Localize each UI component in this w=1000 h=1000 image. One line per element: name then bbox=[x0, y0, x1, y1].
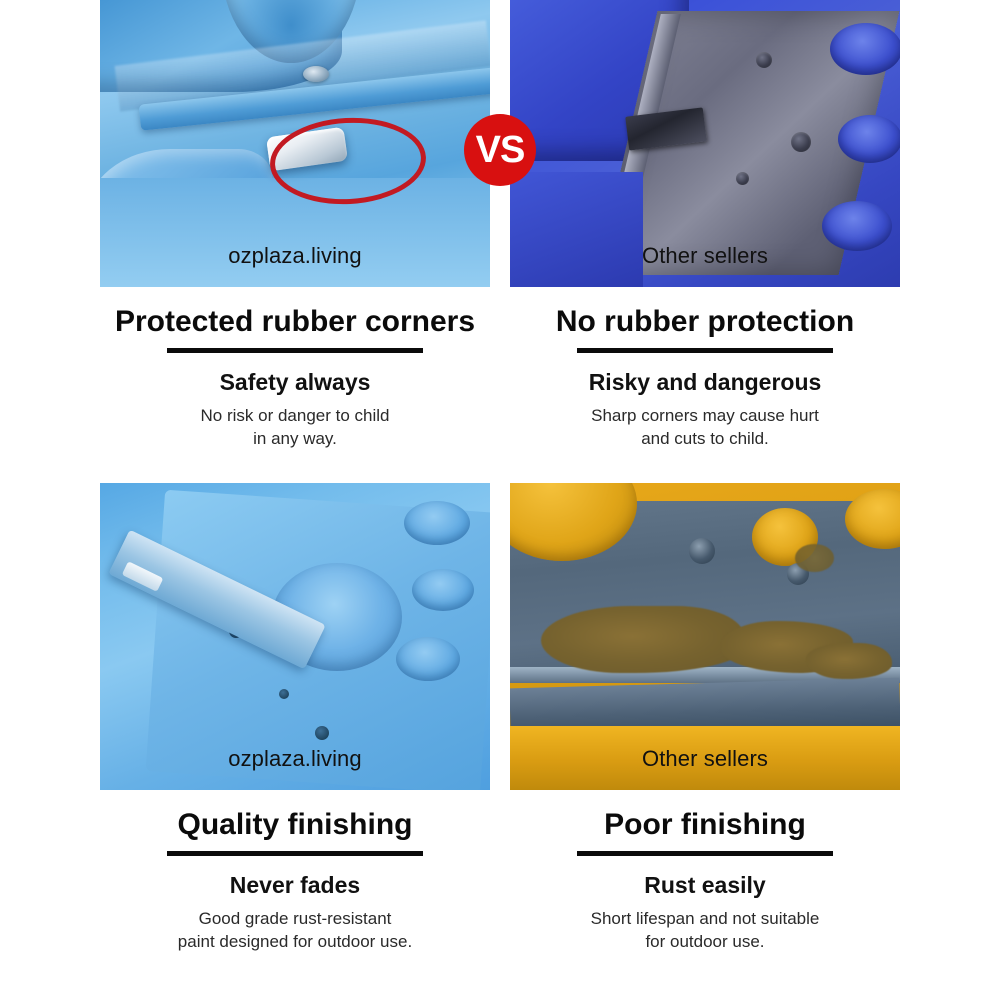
body-ours-line1: No risk or danger to child bbox=[100, 405, 490, 427]
vs-badge-top: VS bbox=[464, 114, 536, 186]
photo-detail-bolt bbox=[756, 52, 772, 68]
text-column-theirs-finishing: Poor finishing Rust easily Short lifespa… bbox=[510, 808, 900, 953]
headline-ours: Quality finishing bbox=[100, 808, 490, 842]
watermark-competitor: Other sellers bbox=[510, 746, 900, 772]
subhead-ours: Safety always bbox=[100, 369, 490, 397]
body-ours-line1: Good grade rust-resistant bbox=[100, 908, 490, 930]
panel-divider-bottom bbox=[490, 483, 510, 790]
subhead-theirs: Risky and dangerous bbox=[510, 369, 900, 397]
subhead-theirs: Rust easily bbox=[510, 872, 900, 900]
headline-rule bbox=[577, 348, 833, 353]
watermark-brand: ozplaza.living bbox=[100, 746, 490, 772]
body-theirs-line2: for outdoor use. bbox=[510, 931, 900, 953]
body-theirs-line2: and cuts to child. bbox=[510, 428, 900, 450]
media-row-bottom: ozplaza.living bbox=[0, 483, 1000, 790]
photo-detail-lower-blue bbox=[510, 172, 643, 287]
competitor-photo-no-protection: Other sellers bbox=[510, 0, 900, 287]
photo-blue-painted-bracket bbox=[100, 483, 490, 790]
headline-rule bbox=[167, 851, 423, 856]
watermark-brand: ozplaza.living bbox=[100, 243, 490, 269]
product-photo-quality-finish: ozplaza.living bbox=[100, 483, 490, 790]
photo-detail-bolt bbox=[791, 132, 811, 152]
body-ours-line2: paint designed for outdoor use. bbox=[100, 931, 490, 953]
photo-rusted-steel-bracket bbox=[510, 483, 900, 790]
comparison-block-finishing-quality: ozplaza.living bbox=[0, 483, 1000, 1000]
headline-rule bbox=[577, 851, 833, 856]
watermark-competitor: Other sellers bbox=[510, 243, 900, 269]
headline-rule bbox=[167, 348, 423, 353]
headline-ours: Protected rubber corners bbox=[100, 305, 490, 339]
photo-detail-rust-patch bbox=[541, 606, 744, 674]
photo-detail-cup-recess bbox=[396, 637, 460, 681]
photo-detail-screw bbox=[303, 66, 329, 82]
body-ours-line2: in any way. bbox=[100, 428, 490, 450]
subhead-ours: Never fades bbox=[100, 872, 490, 900]
comparison-block-corner-protection: ozplaza.living Other bbox=[0, 0, 1000, 480]
photo-detail-rust-patch bbox=[806, 643, 892, 680]
competitor-photo-rusted-finish: Other sellers bbox=[510, 483, 900, 790]
headline-theirs: Poor finishing bbox=[510, 808, 900, 842]
photo-detail-screw-hole bbox=[315, 726, 329, 740]
media-row-top: ozplaza.living Other bbox=[0, 0, 1000, 287]
product-photo-protected-corner: ozplaza.living bbox=[100, 0, 490, 287]
photo-detail-cup-recess bbox=[412, 569, 474, 611]
photo-detail-rust-patch bbox=[795, 544, 834, 572]
photo-detail-cup-recess bbox=[830, 23, 900, 75]
body-theirs-line1: Sharp corners may cause hurt bbox=[510, 405, 900, 427]
photo-detail-cup-recess bbox=[838, 115, 900, 163]
text-column-ours-finishing: Quality finishing Never fades Good grade… bbox=[100, 808, 490, 953]
comparison-infographic: ozplaza.living Other bbox=[0, 0, 1000, 1000]
body-theirs-line1: Short lifespan and not suitable bbox=[510, 908, 900, 930]
text-column-ours-corner: Protected rubber corners Safety always N… bbox=[100, 305, 490, 450]
headline-theirs: No rubber protection bbox=[510, 305, 900, 339]
text-column-theirs-corner: No rubber protection Risky and dangerous… bbox=[510, 305, 900, 450]
